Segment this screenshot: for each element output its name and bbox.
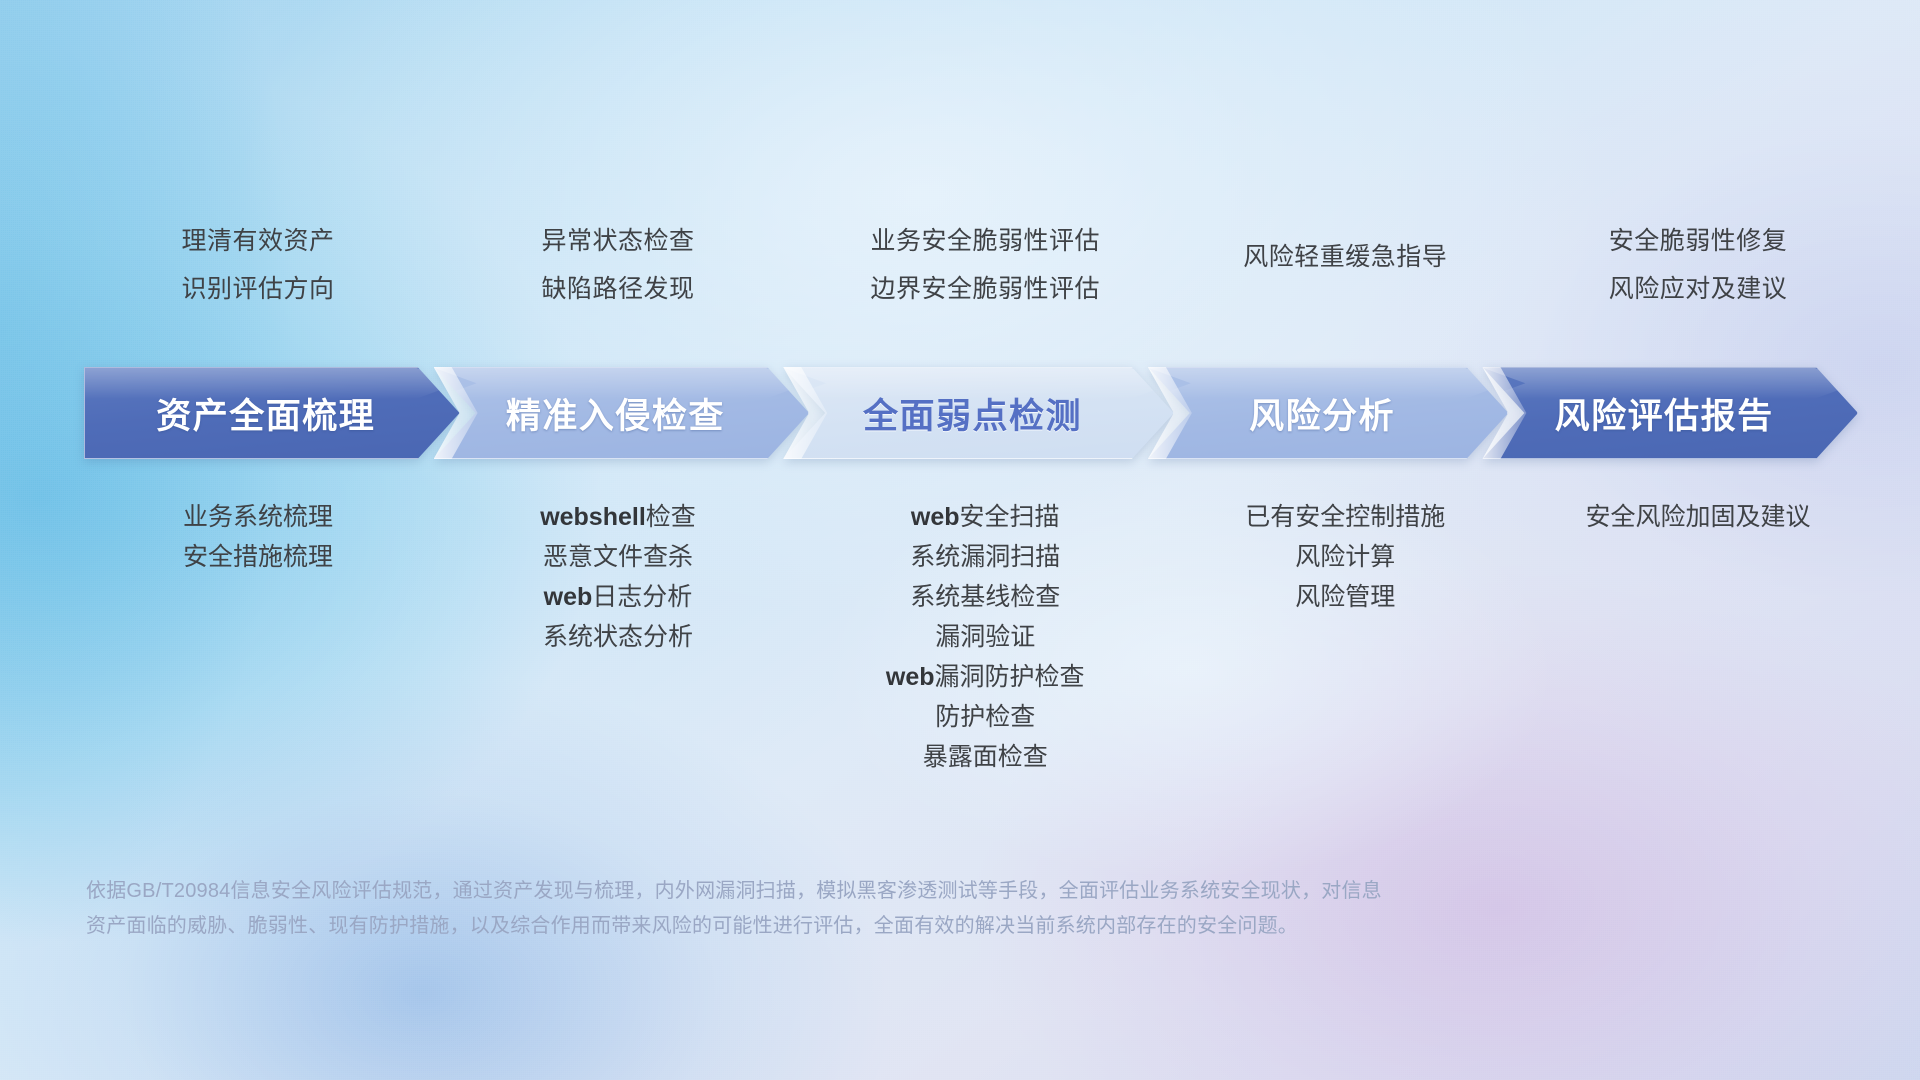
top-caption: 识别评估方向: [181, 276, 334, 304]
stage-title: 精准入侵检查: [506, 388, 725, 439]
top-captions-assessment-report: 安全脆弱性修复风险应对及建议: [1518, 228, 1878, 303]
bottom-items-weakness-detection: web安全扫描系统漏洞扫描系统基线检查漏洞验证web漏洞防护检查防护检查暴露面检…: [798, 497, 1172, 777]
bottom-item: web漏洞防护检查: [886, 657, 1085, 697]
bottom-items-intrusion-check: webshell检查恶意文件查杀web日志分析系统状态分析: [438, 497, 798, 777]
top-caption: 缺陷路径发现: [541, 276, 694, 304]
bottom-item: 系统漏洞扫描: [910, 537, 1060, 577]
stage-title: 资产全面梳理: [156, 388, 375, 439]
bottom-items-asset-inventory: 业务系统梳理安全措施梳理: [78, 497, 438, 777]
top-caption: 边界安全脆弱性评估: [870, 276, 1100, 304]
bottom-item: 业务系统梳理: [183, 497, 333, 537]
stage-chevron-asset-inventory[interactable]: 资产全面梳理: [84, 367, 460, 459]
top-caption: 异常状态检查: [541, 228, 694, 256]
top-caption: 风险轻重缓急指导: [1243, 244, 1447, 272]
top-caption: 安全脆弱性修复: [1609, 228, 1788, 256]
top-captions-risk-analysis: 风险轻重缓急指导: [1172, 228, 1518, 303]
top-captions-intrusion-check: 异常状态检查缺陷路径发现: [438, 228, 798, 303]
bottom-item-prefix: web: [544, 583, 593, 611]
bottom-item: web日志分析: [544, 577, 693, 617]
bottom-item: webshell检查: [540, 497, 696, 537]
bottom-item: 暴露面检查: [923, 737, 1048, 777]
top-caption: 业务安全脆弱性评估: [870, 228, 1100, 256]
top-captions-asset-inventory: 理清有效资产识别评估方向: [78, 228, 438, 303]
bottom-item-text: 漏洞防护检查: [935, 663, 1085, 691]
bottom-item: 恶意文件查杀: [543, 537, 693, 577]
stage-title: 全面弱点检测: [863, 388, 1082, 439]
bottom-items-row: 业务系统梳理安全措施梳理webshell检查恶意文件查杀web日志分析系统状态分…: [78, 497, 1878, 777]
bottom-item: 系统状态分析: [543, 617, 693, 657]
bottom-item-prefix: web: [911, 503, 960, 531]
bottom-item: 系统基线检查: [910, 577, 1060, 617]
bottom-item: 风险管理: [1295, 577, 1395, 617]
stage-chevron-intrusion-check[interactable]: 精准入侵检查: [434, 367, 810, 459]
bottom-item: 安全措施梳理: [183, 537, 333, 577]
bottom-item-text: 安全扫描: [960, 503, 1060, 531]
stage-chevron-banner: 资产全面梳理精准入侵检查全面弱点检测风险分析风险评估报告: [84, 367, 1858, 459]
stage-chevron-weakness-detection[interactable]: 全面弱点检测: [783, 367, 1174, 459]
top-caption: 风险应对及建议: [1609, 276, 1788, 304]
bottom-item-text: 日志分析: [592, 583, 692, 611]
bottom-item: web安全扫描: [911, 497, 1060, 537]
bottom-item-text: 检查: [646, 503, 696, 531]
stage-title: 风险分析: [1249, 388, 1395, 439]
footer-line-1: 依据GB/T20984信息安全风险评估规范，通过资产发现与梳理，内外网漏洞扫描，…: [86, 874, 1586, 909]
process-diagram: 理清有效资产识别评估方向异常状态检查缺陷路径发现业务安全脆弱性评估边界安全脆弱性…: [0, 0, 1920, 1080]
bottom-item: 风险计算: [1295, 537, 1395, 577]
bottom-item-prefix: webshell: [540, 503, 646, 531]
top-caption: 理清有效资产: [181, 228, 334, 256]
stage-chevron-assessment-report[interactable]: 风险评估报告: [1482, 367, 1858, 459]
bottom-item-prefix: web: [886, 663, 935, 691]
stage-title: 风险评估报告: [1555, 388, 1774, 439]
bottom-item: 已有安全控制措施: [1245, 497, 1445, 537]
bottom-item: 防护检查: [935, 697, 1035, 737]
bottom-item: 漏洞验证: [935, 617, 1035, 657]
top-captions-row: 理清有效资产识别评估方向异常状态检查缺陷路径发现业务安全脆弱性评估边界安全脆弱性…: [78, 228, 1878, 303]
bottom-item: 安全风险加固及建议: [1585, 497, 1810, 537]
top-captions-weakness-detection: 业务安全脆弱性评估边界安全脆弱性评估: [798, 228, 1172, 303]
footer-line-2: 资产面临的威胁、脆弱性、现有防护措施，以及综合作用而带来风险的可能性进行评估，全…: [86, 909, 1586, 944]
bottom-items-assessment-report: 安全风险加固及建议: [1518, 497, 1878, 777]
bottom-items-risk-analysis: 已有安全控制措施风险计算风险管理: [1172, 497, 1518, 777]
footer-description: 依据GB/T20984信息安全风险评估规范，通过资产发现与梳理，内外网漏洞扫描，…: [86, 874, 1586, 944]
stage-chevron-risk-analysis[interactable]: 风险分析: [1148, 367, 1509, 459]
